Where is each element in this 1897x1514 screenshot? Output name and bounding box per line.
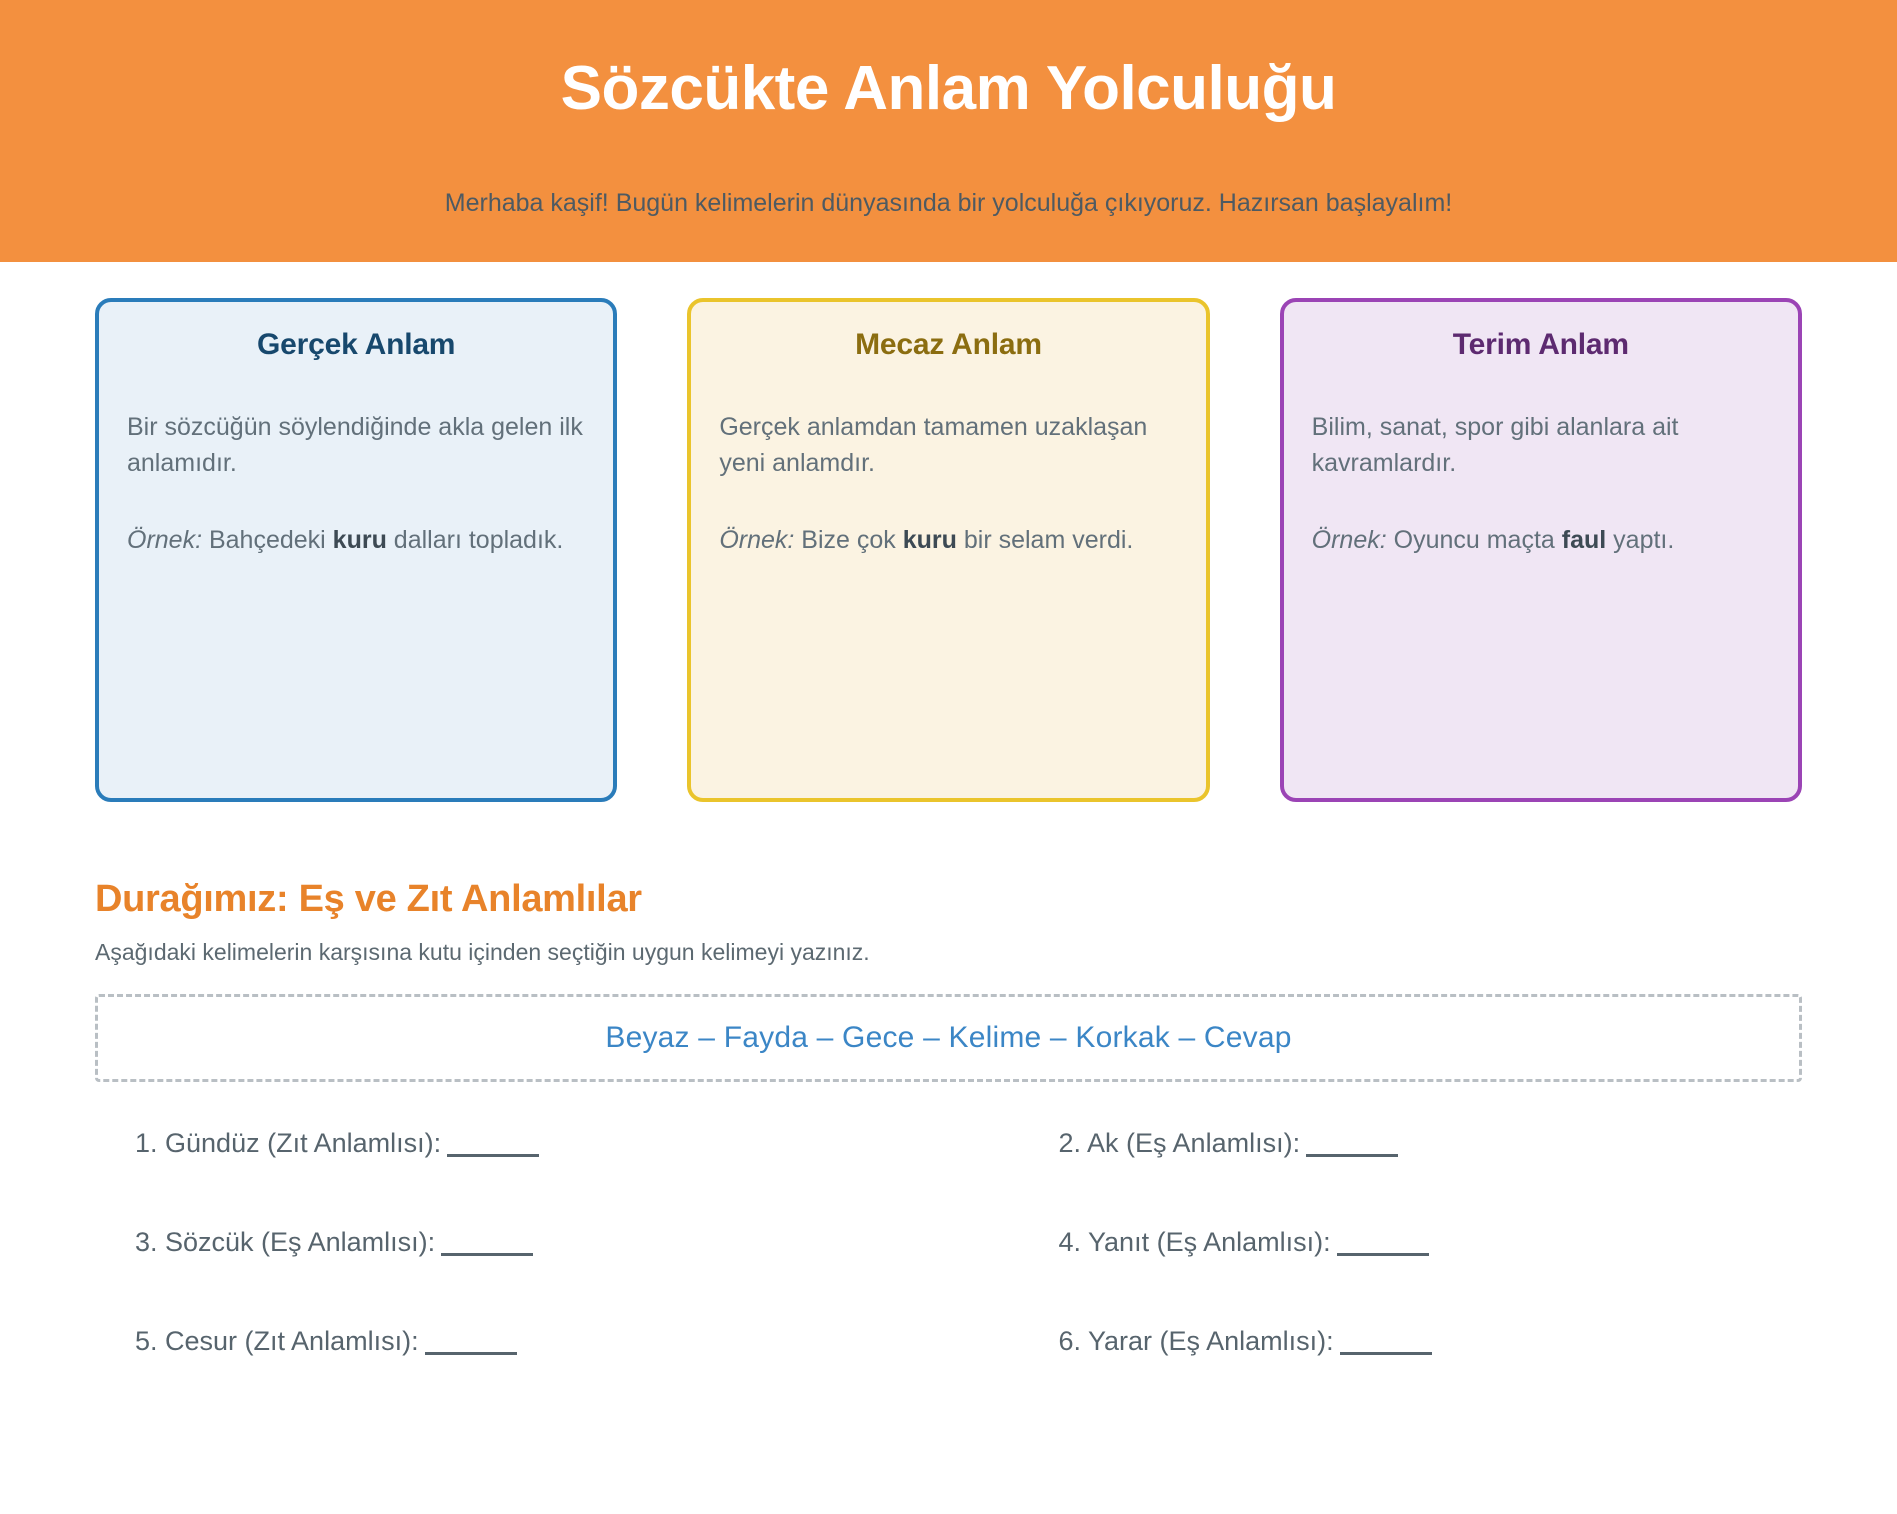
question-text-6: 6. Yarar (Eş Anlamlısı): <box>1059 1326 1334 1356</box>
example-before: Oyuncu maçta <box>1387 526 1562 554</box>
answer-blank-3[interactable] <box>441 1225 533 1256</box>
concept-card-terim-anlam: Terim Anlam Bilim, sanat, spor gibi alan… <box>1280 298 1802 802</box>
question-text-3: 3. Sözcük (Eş Anlamlısı): <box>135 1227 435 1257</box>
example-after: dalları topladık. <box>387 526 564 554</box>
card-example-mecaz-anlam: Örnek: Bize çok kuru bir selam verdi. <box>719 523 1177 559</box>
card-title-terim-anlam: Terim Anlam <box>1312 328 1770 362</box>
questions-grid: 1. Gündüz (Zıt Anlamlısı): 2. Ak (Eş Anl… <box>95 1126 1802 1357</box>
card-definition-mecaz-anlam: Gerçek anlamdan tamamen uzaklaşan yeni a… <box>719 410 1177 481</box>
answer-blank-1[interactable] <box>447 1126 539 1157</box>
answer-blank-2[interactable] <box>1306 1126 1398 1157</box>
card-definition-terim-anlam: Bilim, sanat, spor gibi alanlara ait kav… <box>1312 410 1770 481</box>
page-subtitle: Merhaba kaşif! Bugün kelimelerin dünyası… <box>60 121 1837 220</box>
exercise-instruction: Aşağıdaki kelimelerin karşısına kutu içi… <box>95 939 1802 966</box>
question-item-1: 1. Gündüz (Zıt Anlamlısı): <box>135 1126 949 1159</box>
card-title-mecaz-anlam: Mecaz Anlam <box>719 328 1177 362</box>
example-after: yaptı. <box>1606 526 1674 554</box>
example-keyword: faul <box>1562 526 1606 554</box>
concept-cards-row: Gerçek Anlam Bir sözcüğün söylendiğinde … <box>0 262 1897 802</box>
concept-card-gercek-anlam: Gerçek Anlam Bir sözcüğün söylendiğinde … <box>95 298 617 802</box>
word-bank-box: Beyaz – Fayda – Gece – Kelime – Korkak –… <box>95 994 1802 1082</box>
card-example-gercek-anlam: Örnek: Bahçedeki kuru dalları topladık. <box>127 523 585 559</box>
question-text-2: 2. Ak (Eş Anlamlısı): <box>1059 1128 1301 1158</box>
example-before: Bahçedeki <box>202 526 333 554</box>
example-after: bir selam verdi. <box>957 526 1133 554</box>
card-title-gercek-anlam: Gerçek Anlam <box>127 328 585 362</box>
page-title: Sözcükte Anlam Yolculuğu <box>60 30 1837 121</box>
word-bank-text: Beyaz – Fayda – Gece – Kelime – Korkak –… <box>605 1021 1291 1055</box>
exercise-heading: Durağımız: Eş ve Zıt Anlamlılar <box>95 878 1802 921</box>
exercise-section: Durağımız: Eş ve Zıt Anlamlılar Aşağıdak… <box>0 802 1897 1357</box>
card-example-terim-anlam: Örnek: Oyuncu maçta faul yaptı. <box>1312 523 1770 559</box>
example-label: Örnek: <box>719 526 794 554</box>
question-text-4: 4. Yanıt (Eş Anlamlısı): <box>1059 1227 1331 1257</box>
answer-blank-4[interactable] <box>1337 1225 1429 1256</box>
question-item-5: 5. Cesur (Zıt Anlamlısı): <box>135 1324 949 1357</box>
example-keyword: kuru <box>903 526 957 554</box>
card-body-terim-anlam: Bilim, sanat, spor gibi alanlara ait kav… <box>1312 410 1770 559</box>
question-item-2: 2. Ak (Eş Anlamlısı): <box>949 1126 1763 1159</box>
answer-blank-6[interactable] <box>1340 1324 1432 1355</box>
page-header: Sözcükte Anlam Yolculuğu Merhaba kaşif! … <box>0 0 1897 262</box>
example-before: Bize çok <box>794 526 902 554</box>
example-label: Örnek: <box>1312 526 1387 554</box>
question-item-6: 6. Yarar (Eş Anlamlısı): <box>949 1324 1763 1357</box>
card-body-gercek-anlam: Bir sözcüğün söylendiğinde akla gelen il… <box>127 410 585 559</box>
question-text-5: 5. Cesur (Zıt Anlamlısı): <box>135 1326 419 1356</box>
question-item-3: 3. Sözcük (Eş Anlamlısı): <box>135 1225 949 1258</box>
question-item-4: 4. Yanıt (Eş Anlamlısı): <box>949 1225 1763 1258</box>
example-keyword: kuru <box>333 526 387 554</box>
concept-card-mecaz-anlam: Mecaz Anlam Gerçek anlamdan tamamen uzak… <box>687 298 1209 802</box>
question-text-1: 1. Gündüz (Zıt Anlamlısı): <box>135 1128 441 1158</box>
answer-blank-5[interactable] <box>425 1324 517 1355</box>
card-definition-gercek-anlam: Bir sözcüğün söylendiğinde akla gelen il… <box>127 410 585 481</box>
example-label: Örnek: <box>127 526 202 554</box>
card-body-mecaz-anlam: Gerçek anlamdan tamamen uzaklaşan yeni a… <box>719 410 1177 559</box>
